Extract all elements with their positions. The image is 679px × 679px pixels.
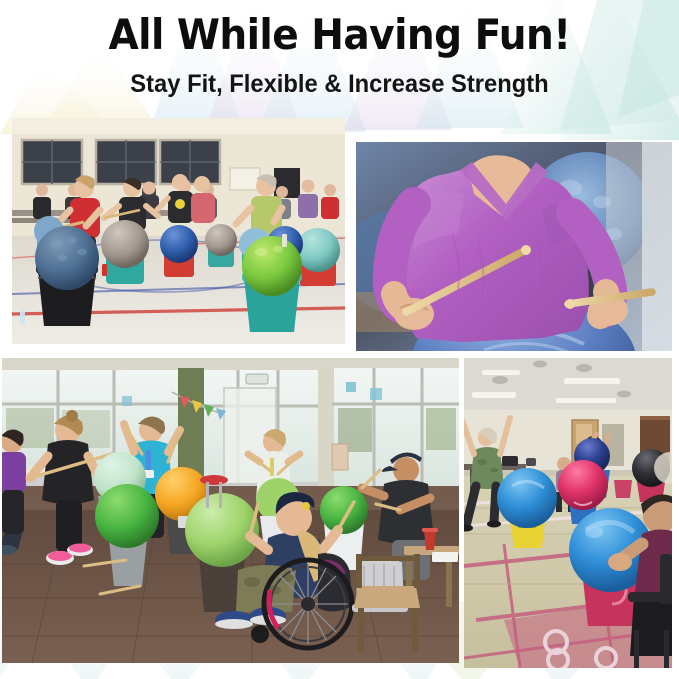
photo-inclusive-drumming-class-wheelchair <box>2 358 459 663</box>
photo-gym-balls-on-buckets-class <box>464 358 672 668</box>
infographic-page: All While Having Fun! Stay Fit, Flexible… <box>0 0 679 679</box>
page-subtitle: Stay Fit, Flexible & Increase Strength <box>17 72 662 97</box>
photo-woman-drumsticks-exercise-ball <box>356 142 672 351</box>
header: All While Having Fun! Stay Fit, Flexible… <box>0 0 679 116</box>
photo-gym-cardio-drumming-class <box>12 118 345 344</box>
page-title: All While Having Fun! <box>24 14 655 56</box>
